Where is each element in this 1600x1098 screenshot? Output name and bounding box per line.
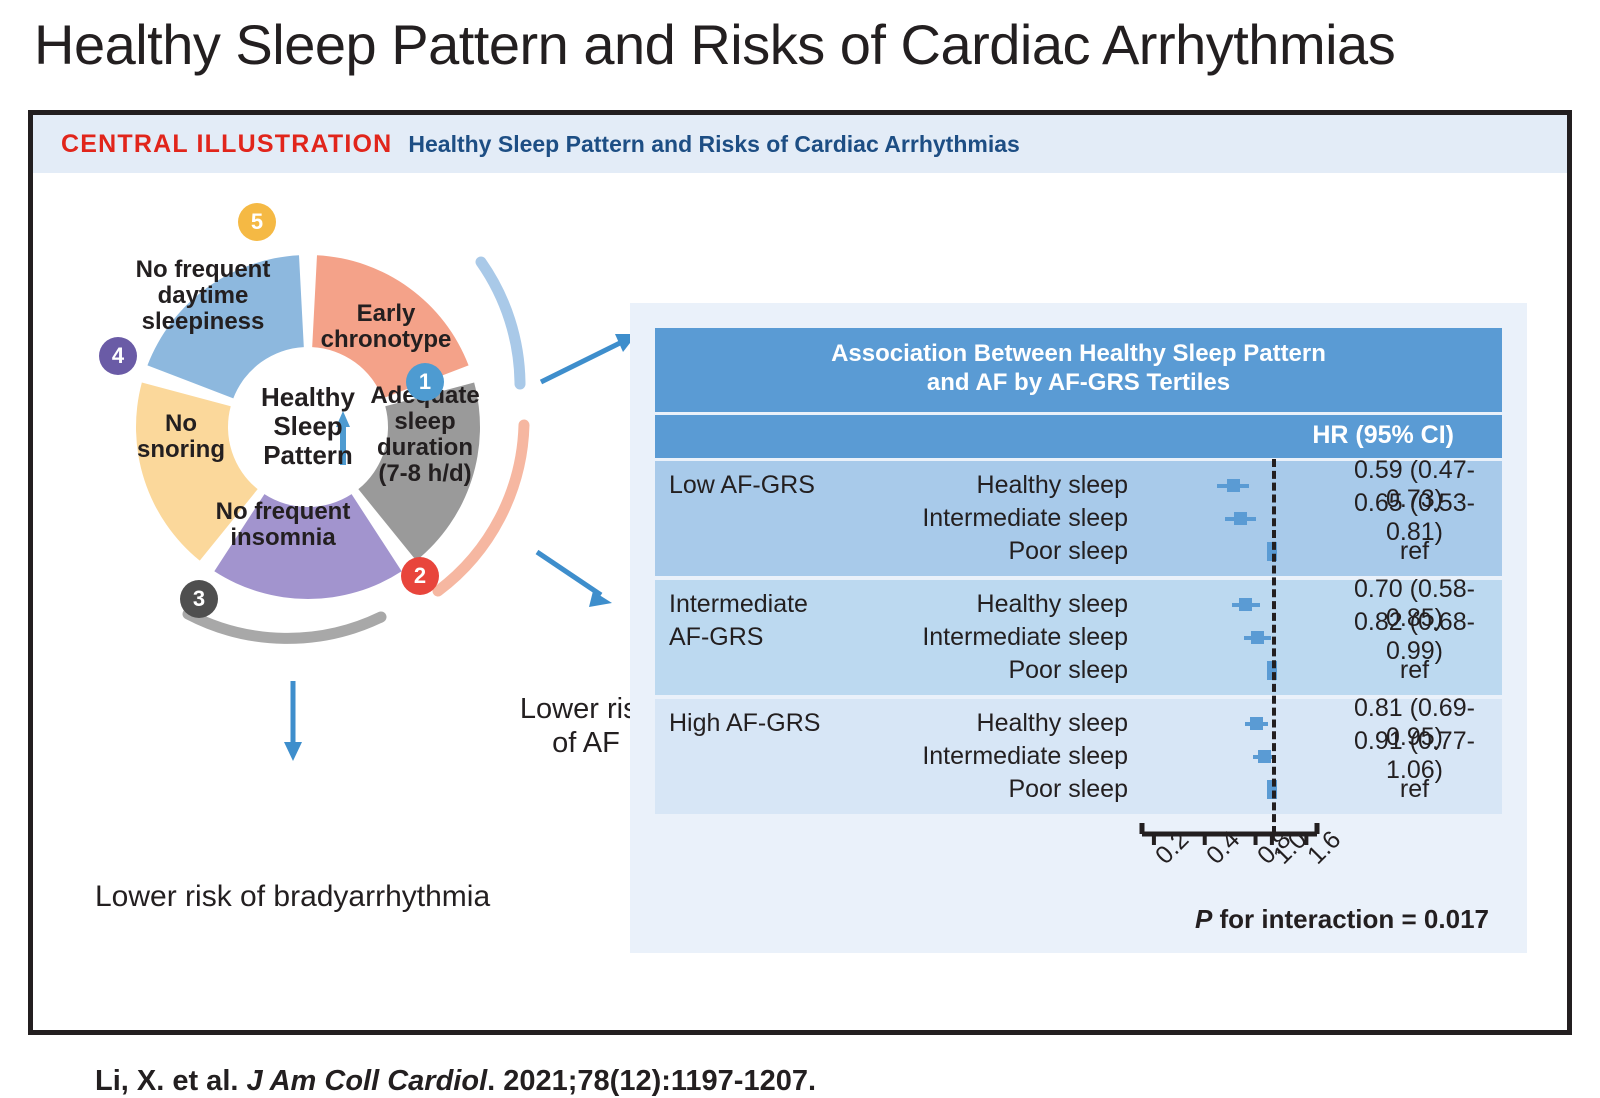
healthy-sleep-wheel: Early chronotype Adequate sleep duration… bbox=[43, 177, 663, 777]
forest-hr-value: ref bbox=[1317, 656, 1502, 685]
forest-row-label: Healthy sleep bbox=[845, 471, 1142, 500]
forest-row-marker bbox=[1142, 588, 1317, 621]
segment-badge-1: 1 bbox=[406, 363, 444, 401]
forest-groups: Low AF-GRSHealthy sleep0.59 (0.47-0.73)I… bbox=[655, 461, 1502, 814]
citation-authors: Li, X. et al. bbox=[95, 1065, 238, 1097]
annotation-bradyarrhythmia: Lower risk of bradyarrhythmia bbox=[95, 880, 490, 914]
forest-group-name: Low AF-GRS bbox=[655, 472, 845, 498]
page-title: Healthy Sleep Pattern and Risks of Cardi… bbox=[34, 12, 1574, 77]
forest-row-marker bbox=[1142, 502, 1317, 535]
forest-group: High AF-GRSHealthy sleep0.81 (0.69-0.95)… bbox=[655, 699, 1502, 814]
wheel-segment-1 bbox=[147, 255, 303, 398]
forest-point-estimate bbox=[1234, 512, 1247, 525]
forest-row-label: Intermediate sleep bbox=[845, 504, 1142, 533]
forest-title-line-1: Association Between Healthy Sleep Patter… bbox=[655, 340, 1502, 369]
forest-row-label: Intermediate sleep bbox=[845, 742, 1142, 771]
forest-group-name: Intermediate bbox=[655, 591, 845, 617]
citation-journal: J Am Coll Cardiol bbox=[247, 1065, 488, 1097]
segment-badge-5: 5 bbox=[238, 203, 276, 241]
axis-tick-label: 0.2 bbox=[1150, 825, 1195, 870]
wheel-segment-2 bbox=[312, 255, 468, 398]
forest-row-marker bbox=[1142, 773, 1317, 806]
forest-row-label: Poor sleep bbox=[845, 656, 1142, 685]
forest-point-estimate bbox=[1227, 479, 1240, 492]
center-line-2: Sleep bbox=[228, 412, 388, 441]
forest-group: Low AF-GRSHealthy sleep0.59 (0.47-0.73)I… bbox=[655, 461, 1502, 576]
arrow-to-bradyarrhythmia bbox=[284, 681, 302, 761]
forest-title: Association Between Healthy Sleep Patter… bbox=[655, 328, 1502, 412]
p-interaction-text: for interaction = 0.017 bbox=[1212, 904, 1489, 934]
forest-row: Intermediate sleep0.91 (0.77-1.06) bbox=[655, 740, 1502, 773]
banner-tag: CENTRAL ILLUSTRATION bbox=[61, 130, 392, 159]
forest-hr-value: ref bbox=[1317, 537, 1502, 566]
forest-row-label: Healthy sleep bbox=[845, 709, 1142, 738]
axis-tick-label: 0.4 bbox=[1201, 825, 1246, 870]
arrow-to-af bbox=[537, 552, 612, 607]
forest-row: AF-GRSIntermediate sleep0.82 (0.68-0.99) bbox=[655, 621, 1502, 654]
segment-badge-3: 3 bbox=[180, 580, 218, 618]
forest-point-estimate bbox=[1239, 598, 1252, 611]
wheel-center-label: Healthy Sleep Pattern bbox=[228, 383, 388, 470]
wheel-segment-4 bbox=[214, 494, 401, 599]
forest-row-marker bbox=[1142, 535, 1317, 568]
wheel-svg bbox=[43, 177, 663, 777]
forest-point-estimate bbox=[1250, 717, 1263, 730]
forest-plot-panel: Association Between Healthy Sleep Patter… bbox=[630, 303, 1527, 953]
forest-point-estimate bbox=[1251, 631, 1264, 644]
forest-group-name: AF-GRS bbox=[655, 624, 845, 650]
arc-blue bbox=[481, 262, 520, 384]
forest-row-label: Poor sleep bbox=[845, 775, 1142, 804]
forest-row: Poor sleepref bbox=[655, 654, 1502, 687]
forest-row-label: Poor sleep bbox=[845, 537, 1142, 566]
segment-badge-4: 4 bbox=[99, 337, 137, 375]
central-illustration-panel: CENTRAL ILLUSTRATION Healthy Sleep Patte… bbox=[28, 110, 1572, 1035]
center-line-1: Healthy bbox=[228, 383, 388, 412]
citation: Li, X. et al. J Am Coll Cardiol. 2021;78… bbox=[95, 1065, 816, 1098]
forest-row-marker bbox=[1142, 469, 1317, 502]
banner: CENTRAL ILLUSTRATION Healthy Sleep Patte… bbox=[33, 115, 1567, 173]
forest-row: Intermediate sleep0.65 (0.53-0.81) bbox=[655, 502, 1502, 535]
forest-group-name: High AF-GRS bbox=[655, 710, 845, 736]
forest-row-marker bbox=[1142, 654, 1317, 687]
forest-title-line-2: and AF by AF-GRS Tertiles bbox=[655, 369, 1502, 398]
forest-row: Poor sleepref bbox=[655, 535, 1502, 568]
forest-plot-inner: Association Between Healthy Sleep Patter… bbox=[655, 328, 1502, 928]
arc-gray bbox=[188, 614, 381, 638]
forest-null-line bbox=[1272, 459, 1276, 834]
forest-point-estimate bbox=[1258, 750, 1271, 763]
forest-row-marker bbox=[1142, 740, 1317, 773]
banner-subtitle: Healthy Sleep Pattern and Risks of Cardi… bbox=[408, 131, 1019, 158]
center-line-3: Pattern bbox=[228, 441, 388, 470]
forest-row-label: Intermediate sleep bbox=[845, 623, 1142, 652]
segment-badge-2: 2 bbox=[401, 557, 439, 595]
citation-details: . 2021;78(12):1197-1207. bbox=[487, 1065, 816, 1097]
forest-row-marker bbox=[1142, 707, 1317, 740]
forest-row: Poor sleepref bbox=[655, 773, 1502, 806]
forest-group: IntermediateHealthy sleep0.70 (0.58-0.85… bbox=[655, 580, 1502, 695]
forest-row-label: Healthy sleep bbox=[845, 590, 1142, 619]
p-for-interaction: P for interaction = 0.017 bbox=[1195, 904, 1489, 935]
forest-row-marker bbox=[1142, 621, 1317, 654]
forest-hr-value: ref bbox=[1317, 775, 1502, 804]
forest-column-header: HR (95% CI) bbox=[655, 415, 1502, 458]
axis-tick-label: 1.6 bbox=[1302, 825, 1347, 870]
arrow-to-ventricular bbox=[541, 334, 637, 382]
